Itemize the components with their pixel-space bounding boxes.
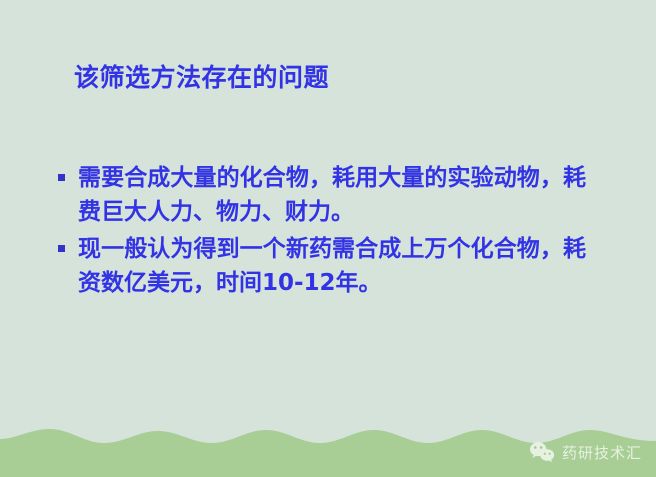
wave-shape-icon	[0, 417, 656, 477]
bullet-list: 需要合成大量的化合物，耗用大量的实验动物，耗费巨大人力、物力、财力。 现一般认为…	[56, 161, 586, 303]
list-item: 需要合成大量的化合物，耗用大量的实验动物，耗费巨大人力、物力、财力。	[56, 161, 586, 229]
slide-title: 该筛选方法存在的问题	[74, 62, 329, 93]
square-bullet-icon	[58, 174, 65, 181]
wechat-icon	[529, 441, 555, 463]
list-item-text: 需要合成大量的化合物，耗用大量的实验动物，耗费巨大人力、物力、财力。	[78, 165, 586, 225]
square-bullet-icon	[58, 245, 65, 252]
list-item-text: 现一般认为得到一个新药需合成上万个化合物，耗资数亿美元，时间10-12年。	[78, 236, 586, 296]
list-item: 现一般认为得到一个新药需合成上万个化合物，耗资数亿美元，时间10-12年。	[56, 232, 586, 300]
presentation-slide: 该筛选方法存在的问题 需要合成大量的化合物，耗用大量的实验动物，耗费巨大人力、物…	[0, 0, 656, 477]
decorative-wave-band	[0, 417, 656, 477]
watermark: 药研技术汇	[529, 441, 642, 463]
watermark-text: 药研技术汇	[562, 442, 642, 463]
